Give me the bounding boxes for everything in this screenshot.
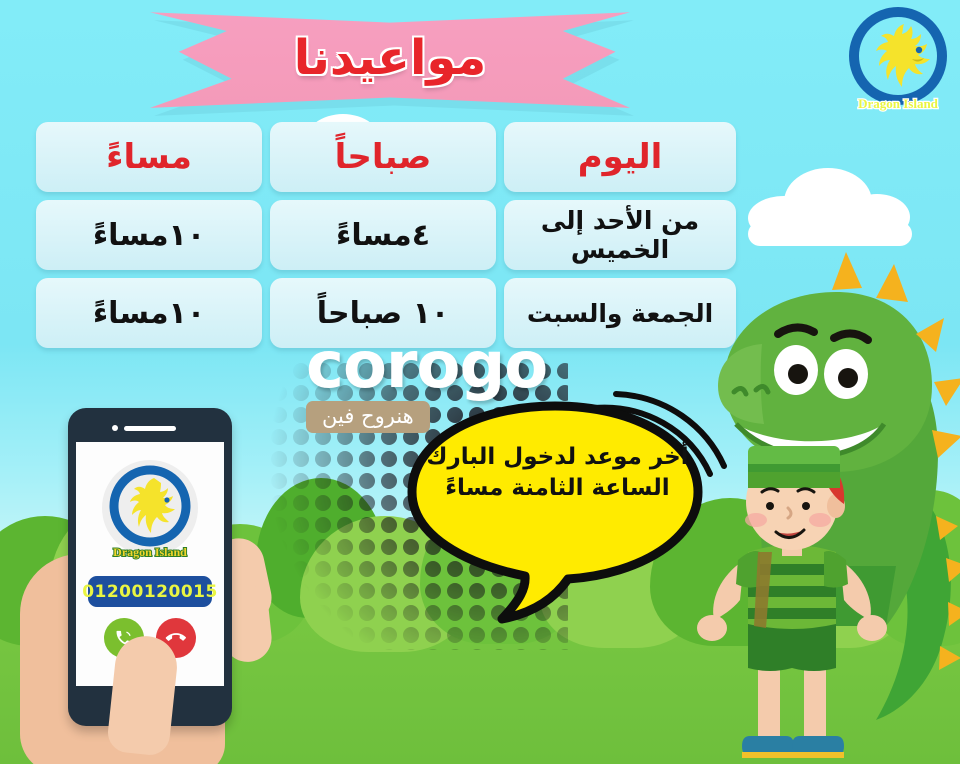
page-title: مواعيدنا bbox=[150, 6, 630, 110]
table-row: الجمعة والسبت ١٠ صباحاً ١٠مساءً bbox=[42, 278, 736, 348]
header-evening: مساءً bbox=[36, 122, 262, 192]
title-banner: مواعيدنا bbox=[150, 6, 630, 118]
phone-brand-logo: Dragon Island bbox=[94, 456, 206, 568]
phone-camera-icon bbox=[112, 425, 118, 431]
phone-number: 01200120015 bbox=[88, 576, 212, 607]
phone-speaker bbox=[124, 426, 176, 431]
cell-morning: ٤مساءً bbox=[270, 200, 496, 270]
cell-morning: ١٠ صباحاً bbox=[270, 278, 496, 348]
brand-logo: Dragon Island bbox=[842, 4, 954, 116]
phone-in-hand: Dragon Island 01200120015 bbox=[30, 398, 290, 764]
cell-evening: ١٠مساءً bbox=[36, 200, 262, 270]
notice-line-2: الساعة الثامنة مساءً bbox=[420, 473, 695, 504]
header-morning: صباحاً bbox=[270, 122, 496, 192]
table-row: من الأحد إلى الخميس ٤مساءً ١٠مساءً bbox=[42, 200, 736, 270]
bubble-shape bbox=[412, 406, 698, 619]
cell-evening: ١٠مساءً bbox=[36, 278, 262, 348]
schedule-header-row: اليوم صباحاً مساءً bbox=[42, 122, 736, 192]
notice-speech-bubble: أخر موعد لدخول البارك الساعة الثامنة مسا… bbox=[380, 390, 730, 620]
notice-line-1: أخر موعد لدخول البارك bbox=[420, 442, 695, 473]
notice-text: أخر موعد لدخول البارك الساعة الثامنة مسا… bbox=[420, 442, 695, 504]
logo-text: Dragon Island bbox=[858, 96, 939, 111]
poster-canvas: Dragon Island مواعيدنا اليوم صباحاً مساء… bbox=[0, 0, 960, 764]
dragon-icon bbox=[876, 24, 930, 87]
schedule-table: اليوم صباحاً مساءً من الأحد إلى الخميس ٤… bbox=[42, 122, 736, 356]
phone-logo-text: Dragon Island bbox=[113, 545, 187, 559]
